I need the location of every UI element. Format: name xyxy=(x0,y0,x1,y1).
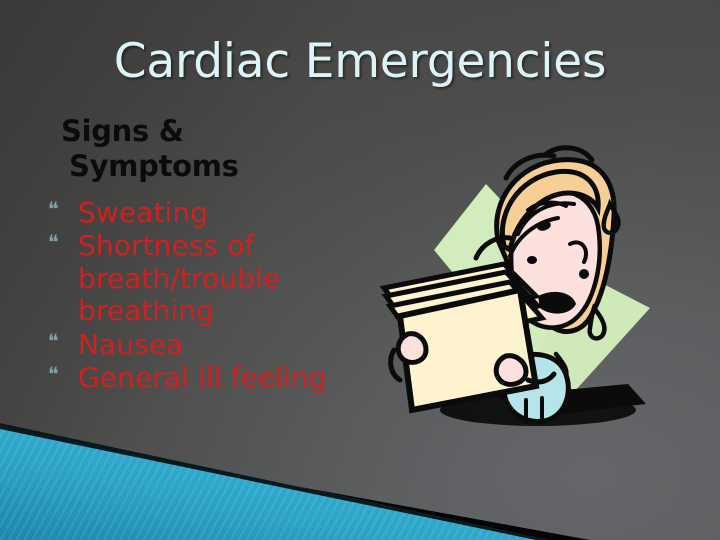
section-heading-line1: Signs & xyxy=(44,114,374,149)
list-item: ❝ Sweating xyxy=(44,197,374,229)
quote-bullet-icon: ❝ xyxy=(48,232,59,252)
eye-right xyxy=(527,256,537,264)
list-item-label: Shortness of breath/trouble breathing xyxy=(78,229,280,327)
slide-title: Cardiac Emergencies xyxy=(0,34,720,89)
list-item: ❝ Nausea xyxy=(44,329,374,361)
quote-bullet-icon: ❝ xyxy=(48,364,59,384)
symptom-list: ❝ Sweating ❝ Shortness of breath/trouble… xyxy=(44,197,374,395)
content-placeholder: Signs & Symptoms ❝ Sweating ❝ Shortness … xyxy=(44,114,374,396)
hand-left xyxy=(398,334,426,363)
earring xyxy=(579,269,589,279)
section-heading-line2: Symptoms xyxy=(44,149,374,184)
hand-right xyxy=(496,356,526,385)
list-item-label: General ill feeling xyxy=(78,361,327,394)
quote-bullet-icon: ❝ xyxy=(48,331,59,351)
clipart-drawing xyxy=(378,138,664,444)
section-heading: Signs & Symptoms xyxy=(44,114,374,185)
list-item: ❝ General ill feeling xyxy=(44,362,374,394)
woman-reading-papers-sweating-clipart xyxy=(378,138,664,444)
list-item: ❝ Shortness of breath/trouble breathing xyxy=(44,230,374,327)
slide: Cardiac Emergencies Signs & Symptoms ❝ S… xyxy=(0,0,720,540)
list-item-label: Nausea xyxy=(78,328,183,361)
quote-bullet-icon: ❝ xyxy=(48,199,59,219)
list-item-label: Sweating xyxy=(78,196,208,229)
